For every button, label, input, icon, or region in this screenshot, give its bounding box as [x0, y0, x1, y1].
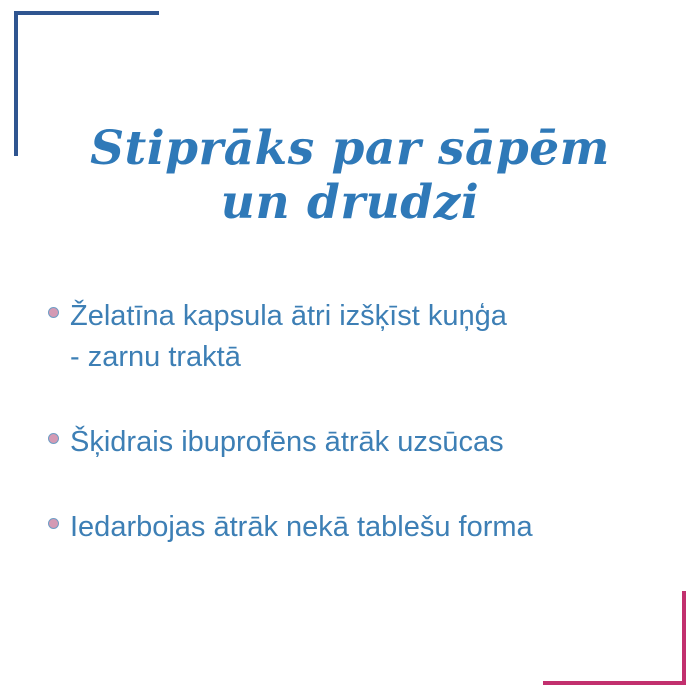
bullet-text-3: Iedarbojas ātrāk nekā tablešu forma — [70, 507, 533, 548]
bullet-text-1-continuation: - zarnu traktā — [70, 337, 507, 378]
bullet-dot-icon — [48, 307, 59, 318]
list-item: Šķidrais ibuprofēns ātrāk uzsūcas — [48, 422, 670, 463]
bullet-list: Želatīna kapsula ātri izšķīst kuņģa- zar… — [48, 296, 670, 548]
bullet-dot-icon — [48, 518, 59, 529]
list-item: Iedarbojas ātrāk nekā tablešu forma — [48, 507, 670, 548]
bullet-text-1: Želatīna kapsula ātri izšķīst kuņģa- zar… — [70, 296, 507, 378]
bullet-text-1-main: Želatīna kapsula ātri izšķīst kuņģa — [70, 300, 507, 332]
bullet-dot-icon — [48, 433, 59, 444]
slide-canvas: Stiprāks par sāpēm un drudzi Želatīna ka… — [0, 0, 700, 700]
list-item: Želatīna kapsula ātri izšķīst kuņģa- zar… — [48, 296, 670, 378]
slide-title: Stiprāks par sāpēm un drudzi — [0, 122, 700, 230]
title-line-1: Stiprāks par sāpēm — [30, 122, 670, 176]
bullet-text-2: Šķidrais ibuprofēns ātrāk uzsūcas — [70, 422, 504, 463]
bottom-right-corner-bracket — [543, 591, 686, 685]
title-line-2: un drudzi — [30, 176, 670, 230]
